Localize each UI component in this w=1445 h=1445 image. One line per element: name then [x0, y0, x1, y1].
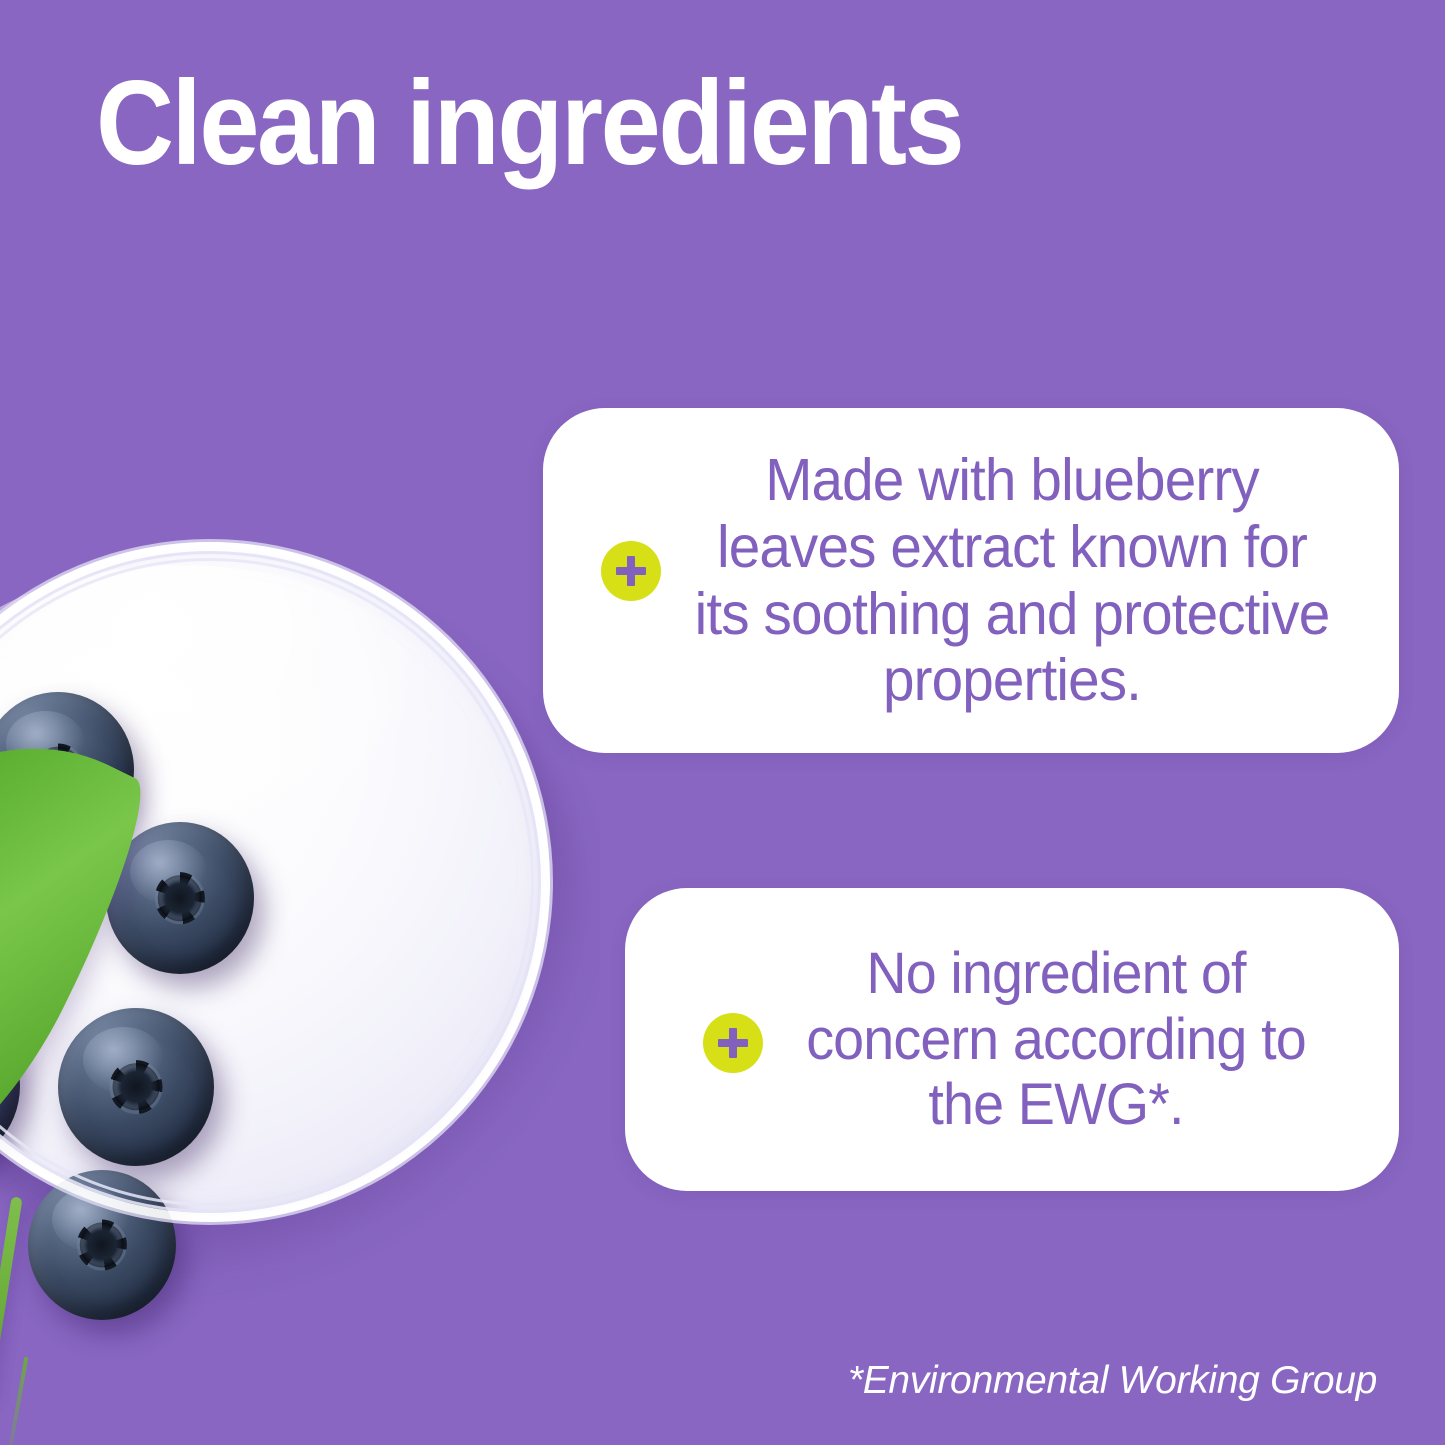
leaf-stem — [0, 1196, 23, 1395]
product-photo — [0, 470, 600, 1445]
benefit-card-2-text: No ingredient of concern according to th… — [765, 941, 1347, 1138]
footnote: *Environmental Working Group — [848, 1359, 1377, 1403]
blueberry-crown — [77, 1220, 127, 1271]
plus-icon — [601, 541, 661, 601]
leaf-stem-tip — [4, 1357, 29, 1445]
plus-icon-vertical-bar — [627, 556, 635, 586]
marketing-slide: Clean ingredients — [0, 0, 1445, 1445]
plus-icon-vertical-bar — [729, 1028, 737, 1058]
benefit-card-1: Made with blueberry leaves extract known… — [543, 408, 1399, 753]
plus-icon — [703, 1013, 763, 1073]
benefit-card-1-text: Made with blueberry leaves extract known… — [683, 447, 1342, 714]
page-title: Clean ingredients — [96, 62, 1158, 184]
